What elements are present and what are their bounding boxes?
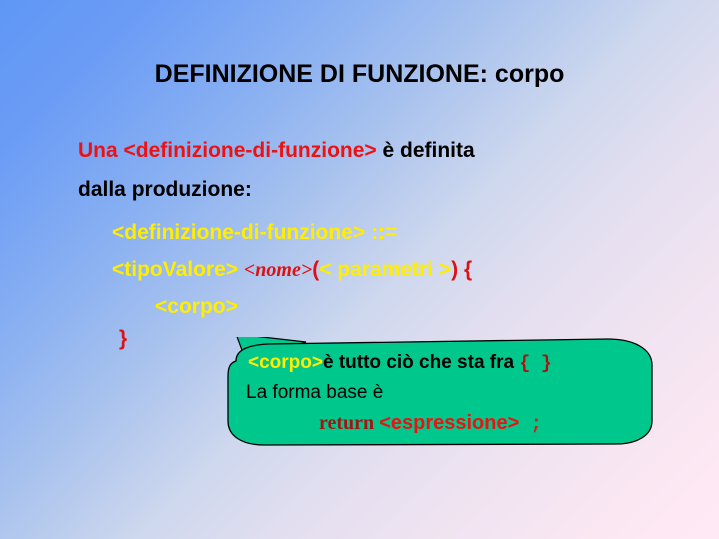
slide-canvas: DEFINIZIONE DI FUNZIONE: corpo Una <defi… xyxy=(0,0,719,539)
callout-balloon: <corpo>è tutto ciò che sta fra { } La fo… xyxy=(216,337,660,447)
callout-text-block: <corpo>è tutto ciò che sta fra { } La fo… xyxy=(216,337,660,447)
callout-semicolon: ; xyxy=(519,413,542,435)
code-line-lhs: <definizione-di-funzione> ::= xyxy=(112,221,397,245)
code-nonterminal-nome: <nome> xyxy=(244,259,312,281)
code-nonterminal-definizione: <definizione-di-funzione> xyxy=(112,221,365,244)
code-operator-assign: ::= xyxy=(365,221,397,244)
body-line-definition: Una <definizione-di-funzione> è definita xyxy=(78,139,475,163)
callout-keyword-return: return xyxy=(319,412,379,434)
callout-line1-text: è tutto ciò che sta fra xyxy=(323,352,519,373)
code-nonterminal-tipovalore: <tipoValore> xyxy=(112,258,244,281)
callout-tag-espressione: <espressione> xyxy=(379,412,519,434)
code-line-signature: <tipoValore> <nome>(< parametri >) { xyxy=(112,258,472,282)
body-line1-black-part: è definita xyxy=(377,139,475,162)
callout-tag-corpo: <corpo> xyxy=(248,352,323,373)
page-title: DEFINIZIONE DI FUNZIONE: corpo xyxy=(0,60,719,89)
code-line-brace-close: } xyxy=(119,327,127,351)
callout-braces: { } xyxy=(519,354,551,374)
callout-line-3: return <espressione> ; xyxy=(319,412,542,435)
code-brace-open: { xyxy=(458,258,472,281)
code-nonterminal-corpo: <corpo> xyxy=(155,295,238,318)
callout-line-1: <corpo>è tutto ciò che sta fra { } xyxy=(248,352,552,374)
code-nonterminal-parametri: < parametri > xyxy=(319,258,451,281)
code-line-corpo: <corpo> xyxy=(155,295,238,319)
body-line-production: dalla produzione: xyxy=(78,178,252,202)
body-line1-red-part: Una <definizione-di-funzione> xyxy=(78,139,377,162)
callout-line-2: La forma base è xyxy=(246,382,383,404)
code-brace-close: } xyxy=(119,327,127,350)
